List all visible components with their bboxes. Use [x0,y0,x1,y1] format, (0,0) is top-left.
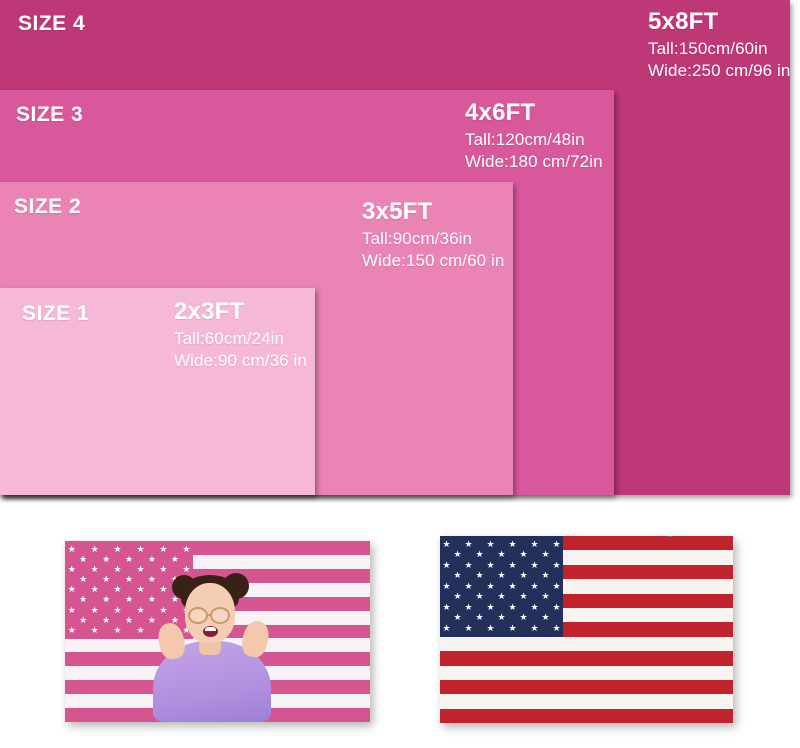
size-label-size-3: SIZE 3 [16,103,83,127]
woman-glasses-left-lens [188,607,208,624]
dimension-tall-3x5ft: Tall:90cm/36in [362,228,505,250]
product-photo-usa-flag: ★★★★★★★★★★★★★★★★★★★★★★★★★★★★★★★★★★★★★★★★… [440,536,733,723]
product-photo-pink-flag: ★★★★★★★★★★★★★★★★★★★★★★★★★★★★★★★★★★★★★★★★… [65,541,370,722]
dimension-title-3x5ft: 3x5FT [362,198,505,226]
dimension-tall-4x6ft: Tall:120cm/48in [465,129,603,151]
woman-glasses-bridge [207,614,212,616]
woman-glasses-right-lens [210,607,230,624]
dimension-title-5x8ft: 5x8FT [648,8,791,36]
dimension-tall-5x8ft: Tall:150cm/60in [648,38,791,60]
size-label-size-2: SIZE 2 [14,195,81,219]
dimension-block-5x8ft: 5x8FT Tall:150cm/60in Wide:250 cm/96 in [648,8,791,83]
dimension-wide-2x3ft: Wide:90 cm/36 in [174,350,307,372]
size-label-size-1: SIZE 1 [22,302,89,326]
size-comparison-panel: SIZE 4 SIZE 3 SIZE 2 SIZE 1 5x8FT Tall:1… [0,0,790,495]
dimension-block-2x3ft: 2x3FT Tall:60cm/24in Wide:90 cm/36 in [174,298,307,373]
size-label-size-4: SIZE 4 [18,12,85,36]
flag-canton-usa: ★★★★★★★★★★★★★★★★★★★★★★★★★★★★★★★★★★★★★★★★… [440,536,563,637]
dimension-title-2x3ft: 2x3FT [174,298,307,326]
dimension-wide-3x5ft: Wide:150 cm/60 in [362,250,505,272]
dimension-title-4x6ft: 4x6FT [465,99,603,127]
dimension-block-3x5ft: 3x5FT Tall:90cm/36in Wide:150 cm/60 in [362,198,505,273]
dimension-tall-2x3ft: Tall:60cm/24in [174,328,307,350]
dimension-block-4x6ft: 4x6FT Tall:120cm/48in Wide:180 cm/72in [465,99,603,174]
dimension-wide-4x6ft: Wide:180 cm/72in [465,151,603,173]
size-chart-infographic: SIZE 4 SIZE 3 SIZE 2 SIZE 1 5x8FT Tall:1… [0,0,800,748]
dimension-wide-5x8ft: Wide:250 cm/96 in [648,60,791,82]
flag-stars-usa: ★★★★★★★★★★★★★★★★★★★★★★★★★★★★★★★★★★★★★★★★… [440,536,563,637]
woman-teeth [205,627,216,631]
